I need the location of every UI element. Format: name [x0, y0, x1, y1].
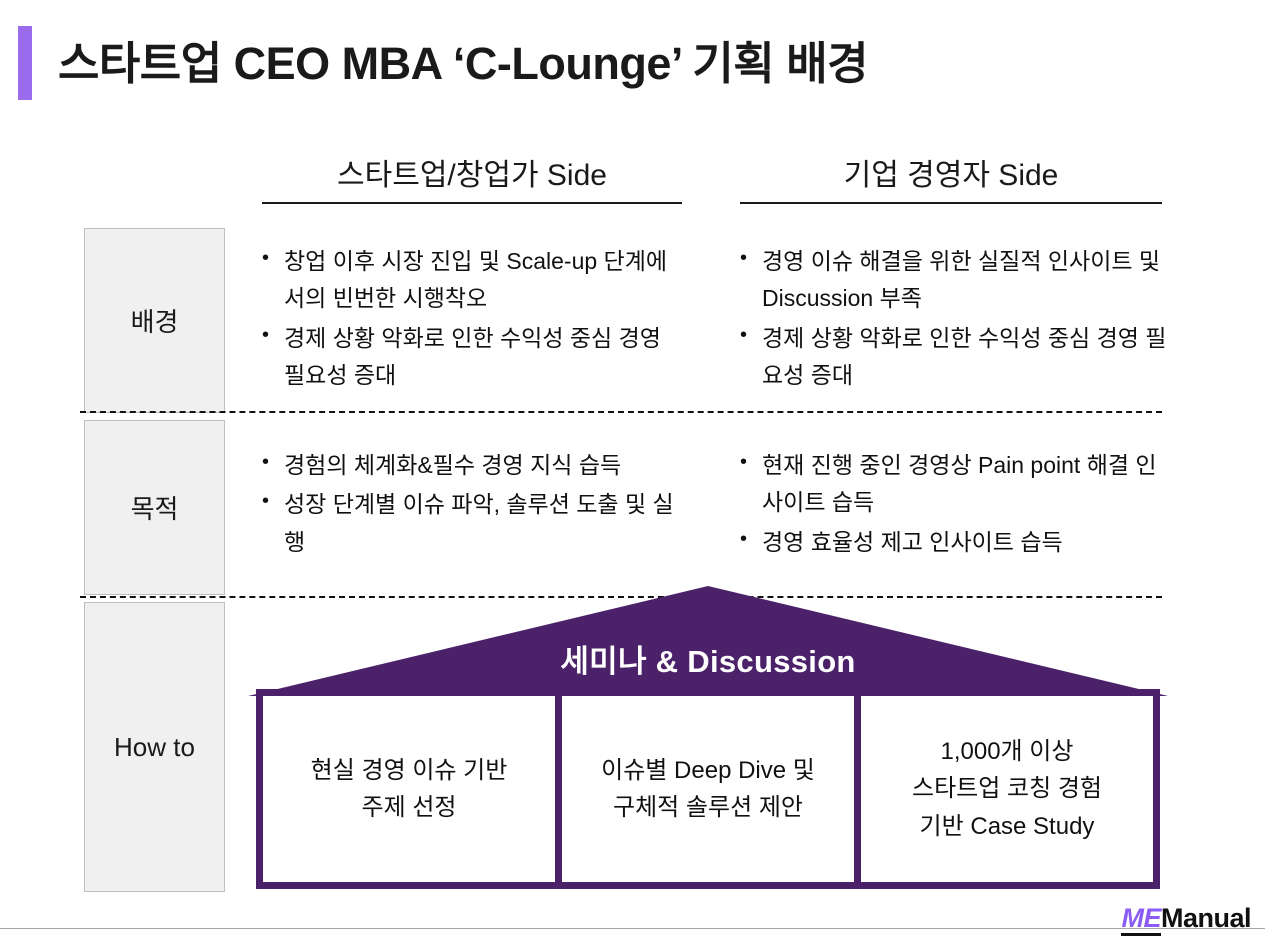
house-diagram: 세미나 & Discussion 현실 경영 이슈 기반주제 선정 이슈별 De…	[248, 586, 1168, 892]
row-label-background: 배경	[84, 228, 225, 413]
pillar-text: 1,000개 이상스타트업 코칭 경험기반 Case Study	[912, 733, 1102, 845]
bullet-list-purpose-executive: 현재 진행 중인 경영상 Pain point 해결 인사이트 습득경영 효율성…	[736, 447, 1168, 563]
pillar-text: 현실 경영 이슈 기반주제 선정	[311, 752, 508, 826]
row-divider-1	[80, 411, 1162, 413]
bullet-item: 경영 효율성 제고 인사이트 습득	[736, 524, 1168, 561]
house-pillar-row: 현실 경영 이슈 기반주제 선정 이슈별 Deep Dive 및구체적 솔루션 …	[256, 689, 1160, 889]
pillar-box-1: 현실 경영 이슈 기반주제 선정	[263, 696, 555, 882]
pillar-box-3: 1,000개 이상스타트업 코칭 경험기반 Case Study	[861, 696, 1153, 882]
bullet-list-background-startup: 창업 이후 시장 진입 및 Scale-up 단계에서의 빈번한 시행착오경제 …	[258, 243, 688, 396]
bullet-list-purpose-startup: 경험의 체계화&필수 경영 지식 습득성장 단계별 이슈 파악, 솔루션 도출 …	[258, 447, 688, 563]
slide-canvas: 스타트업 CEO MBA ‘C-Lounge’ 기획 배경 스타트업/창업가 S…	[0, 0, 1265, 947]
brand-logo-mark: ME	[1121, 905, 1161, 936]
title-accent-bar	[18, 26, 32, 100]
bullet-item: 창업 이후 시장 진입 및 Scale-up 단계에서의 빈번한 시행착오	[258, 243, 688, 318]
roof-triangle-icon	[248, 586, 1168, 706]
column-header-executive: 기업 경영자 Side	[740, 158, 1162, 204]
row-label-purpose: 목적	[84, 420, 225, 595]
row-label-howto: How to	[84, 602, 225, 892]
footer-divider	[0, 928, 1265, 929]
bullet-item: 성장 단계별 이슈 파악, 솔루션 도출 및 실행	[258, 486, 688, 561]
pillar-text: 이슈별 Deep Dive 및구체적 솔루션 제안	[601, 752, 815, 826]
column-header-startup: 스타트업/창업가 Side	[262, 158, 682, 204]
column-header-executive-rule	[740, 202, 1162, 204]
bullet-list-background-executive: 경영 이슈 해결을 위한 실질적 인사이트 및 Discussion 부족경제 …	[736, 243, 1168, 396]
bullet-item: 경영 이슈 해결을 위한 실질적 인사이트 및 Discussion 부족	[736, 243, 1168, 318]
column-header-startup-label: 스타트업/창업가 Side	[262, 158, 682, 194]
pillar-box-2: 이슈별 Deep Dive 및구체적 솔루션 제안	[562, 696, 854, 882]
slide-title-row: 스타트업 CEO MBA ‘C-Lounge’ 기획 배경	[18, 26, 868, 100]
bullet-item: 경제 상황 악화로 인한 수익성 중심 경영 필요성 증대	[736, 320, 1168, 395]
bullet-item: 현재 진행 중인 경영상 Pain point 해결 인사이트 습득	[736, 447, 1168, 522]
brand-logo-word: Manual	[1161, 905, 1251, 932]
column-header-startup-rule	[262, 202, 682, 204]
page-title: 스타트업 CEO MBA ‘C-Lounge’ 기획 배경	[58, 41, 868, 86]
bullet-item: 경험의 체계화&필수 경영 지식 습득	[258, 447, 688, 484]
bullet-item: 경제 상황 악화로 인한 수익성 중심 경영 필요성 증대	[258, 320, 688, 395]
brand-logo: ME Manual	[1121, 905, 1251, 936]
column-header-executive-label: 기업 경영자 Side	[740, 158, 1162, 194]
